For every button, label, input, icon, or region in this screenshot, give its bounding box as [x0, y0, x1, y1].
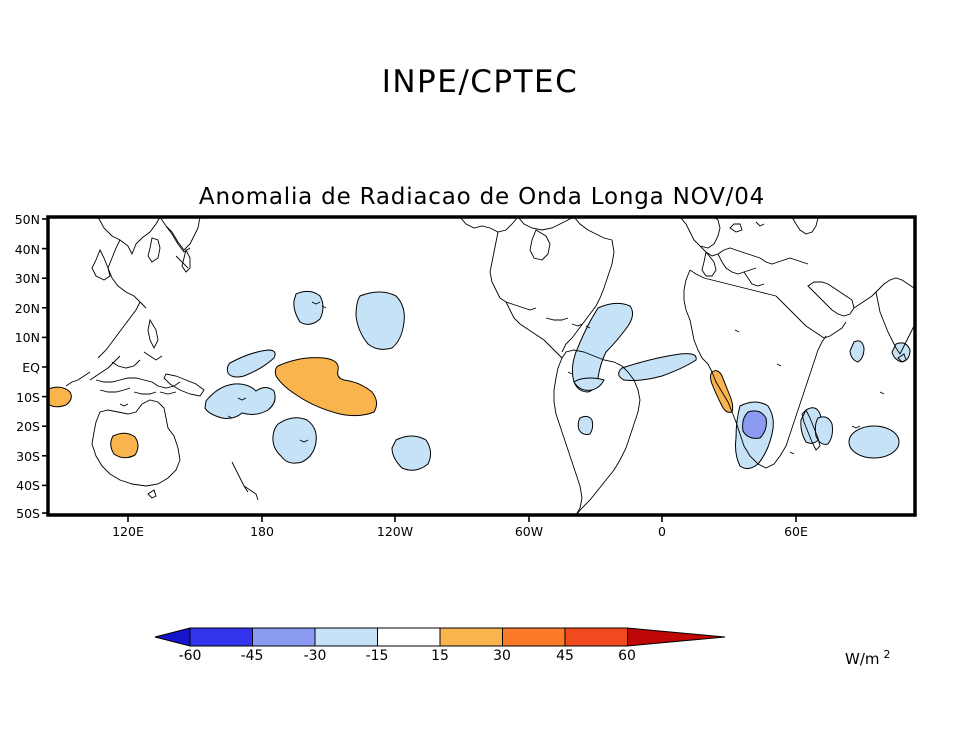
y-axis-label-50s: 50S — [2, 506, 40, 521]
x-axis-label-60w: 60W — [499, 524, 559, 539]
colorbar-label-minus60: -60 — [163, 648, 217, 664]
y-axis-label-30n: 30N — [2, 271, 40, 286]
y-axis-label-10n: 10N — [2, 330, 40, 345]
y-axis-label-30s: 30S — [2, 449, 40, 464]
region-australia-interior-positive — [111, 433, 138, 458]
region-brazil-interior-negative — [578, 416, 592, 434]
y-axis-label-40n: 40N — [2, 242, 40, 257]
y-axis-label-50n: 50N — [2, 212, 40, 227]
region-madagascar-east-negative — [815, 417, 832, 444]
colorbar-units-text: W/m — [845, 650, 880, 668]
colorbar-band-minus15-15[interactable] — [378, 628, 441, 646]
x-axis-label-120e: 120E — [98, 524, 158, 539]
y-axis-label-eq: EQ — [2, 360, 40, 375]
map-background — [48, 217, 915, 515]
region-south-indian-ocean-negative — [849, 426, 899, 458]
y-axis-label-10s: 10S — [2, 390, 40, 405]
y-axis-label-40s: 40S — [2, 478, 40, 493]
colorbar-band-15-30[interactable] — [440, 628, 503, 646]
colorbar-label-30: 30 — [475, 648, 529, 664]
colorbar-units-exponent: 2 — [884, 648, 891, 661]
colorbar-band-30-45[interactable] — [503, 628, 566, 646]
colorbar-label-minus45: -45 — [225, 648, 279, 664]
colorbar-band-minus45-minus30[interactable] — [253, 628, 316, 646]
colorbar-band-45-60[interactable] — [565, 628, 628, 646]
colorbar-band-minus60-minus45[interactable] — [190, 628, 253, 646]
region-north-pacific-subtropic-negative — [294, 291, 323, 324]
colorbar-band-minus30-minus15[interactable] — [315, 628, 378, 646]
y-axis-label-20s: 20S — [2, 419, 40, 434]
x-axis-label-180: 180 — [232, 524, 292, 539]
page-root: INPE/CPTEC Anomalia de Radiacao de Onda … — [0, 0, 960, 741]
colorbar-units: W/m2 — [845, 648, 891, 668]
colorbar-label-60: 60 — [600, 648, 654, 664]
colorbar-label-15: 15 — [413, 648, 467, 664]
colorbar-band-arrow-left[interactable] — [155, 628, 190, 646]
region-indian-ocean-west-edge-positive — [48, 387, 71, 407]
x-axis-label-60e: 60E — [766, 524, 826, 539]
colorbar-band-arrow-right[interactable] — [628, 628, 726, 646]
colorbar-label-minus30: -30 — [288, 648, 342, 664]
map-figure: 50N 40N 30N 20N 10N EQ 10S 20S 30S 40S 5… — [0, 0, 960, 741]
map-svg — [0, 0, 960, 741]
colorbar[interactable] — [155, 628, 725, 646]
region-southern-africa-negative-core — [743, 411, 767, 439]
colorbar-label-minus15: -15 — [350, 648, 404, 664]
x-axis-label-120w: 120W — [365, 524, 425, 539]
y-axis-label-20n: 20N — [2, 301, 40, 316]
colorbar-label-45: 45 — [538, 648, 592, 664]
x-axis-label-0: 0 — [632, 524, 692, 539]
